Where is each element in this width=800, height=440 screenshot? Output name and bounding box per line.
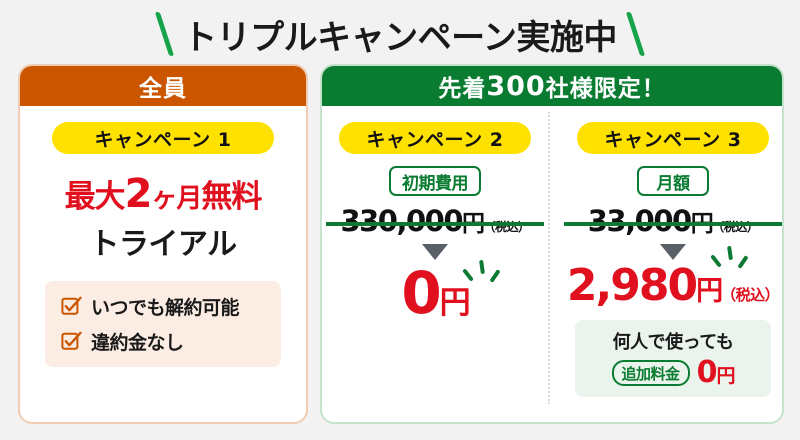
new-amount: 0: [401, 259, 439, 327]
campaign-2-old-price: 330,000円（税込）: [322, 204, 548, 238]
down-triangle-icon: [660, 244, 686, 260]
card-1-subheadline: トライアル: [20, 219, 306, 263]
card-group-header: 先着300社様限定！: [322, 66, 782, 106]
benefit-label: いつでも解約可能: [91, 293, 239, 320]
banner-title: トリプルキャンペーン実施中: [183, 10, 617, 59]
headline-number: 2: [125, 171, 152, 217]
campaign-2-tag: 初期費用: [389, 166, 481, 196]
checkbox-icon: [61, 331, 82, 352]
headline-unit: ヶ月: [151, 184, 201, 214]
card-1-headline: 最大2ヶ月無料: [20, 172, 306, 217]
benefit-label: 違約金なし: [91, 328, 184, 355]
headline-suffix: 無料: [201, 179, 261, 215]
down-triangle-icon: [422, 244, 448, 260]
new-yen: 円: [696, 276, 721, 307]
extra-note-title: 何人で使っても: [575, 328, 771, 354]
extra-fee-amount: 0円: [697, 358, 735, 388]
new-amount: 2,980: [567, 260, 696, 311]
campaign-3-old-price: 33,000円（税込）: [560, 204, 784, 238]
campaign-card-3: キャンペーン 3 月額 33,000円（税込） 2,980円（税込）: [560, 106, 784, 422]
slash-left-icon: [155, 12, 174, 56]
benefit-item: 違約金なし: [61, 328, 281, 355]
new-yen: 円: [440, 285, 469, 321]
strikethrough-line: [564, 222, 782, 226]
header-suffix: 社様限定！: [546, 69, 666, 103]
campaign-3-tag: 月額: [637, 166, 709, 196]
banner-title-row: トリプルキャンペーン実施中: [0, 8, 800, 60]
extra-note-row: 追加料金 0円: [575, 358, 771, 388]
campaign-2-pill: キャンペーン 2: [339, 122, 531, 154]
campaign-banner: トリプルキャンペーン実施中 全員 キャンペーン 1 最大2ヶ月無料 トライアル: [0, 0, 800, 440]
campaign-2-new-price: 0円: [322, 264, 548, 322]
checkbox-icon: [61, 296, 82, 317]
strikethrough-line: [326, 222, 544, 226]
campaign-card-group-2-3: 先着300社様限定！ キャンペーン 2 初期費用 330,000円（税込） 0円: [320, 64, 784, 424]
extra-amount-number: 0: [697, 355, 717, 390]
header-number: 300: [486, 71, 545, 102]
header-prefix: 先着: [438, 69, 486, 103]
extra-fee-tag: 追加料金: [612, 360, 690, 386]
headline-prefix: 最大: [65, 179, 125, 215]
campaign-3-new-price: 2,980円（税込）: [560, 264, 784, 308]
card-1-body: キャンペーン 1 最大2ヶ月無料 トライアル いつでも解約可能: [20, 122, 306, 424]
campaign-3-pill: キャンペーン 3: [577, 122, 769, 154]
campaign-card-1: 全員 キャンペーン 1 最大2ヶ月無料 トライアル いつでも解約可能: [18, 64, 308, 424]
column-divider: [548, 112, 550, 404]
campaign-card-2: キャンペーン 2 初期費用 330,000円（税込） 0円: [322, 106, 548, 422]
new-tax-note: （税込）: [721, 286, 779, 304]
card-1-header: 全員: [20, 66, 306, 106]
benefit-item: いつでも解約可能: [61, 293, 281, 320]
extra-amount-yen: 円: [716, 365, 734, 387]
card-group-body: キャンペーン 2 初期費用 330,000円（税込） 0円: [322, 106, 782, 422]
slash-right-icon: [626, 12, 645, 56]
campaign-1-pill: キャンペーン 1: [52, 122, 274, 154]
campaign-3-extra-note: 何人で使っても 追加料金 0円: [575, 320, 771, 397]
card-1-benefits: いつでも解約可能 違約金なし: [45, 281, 281, 367]
